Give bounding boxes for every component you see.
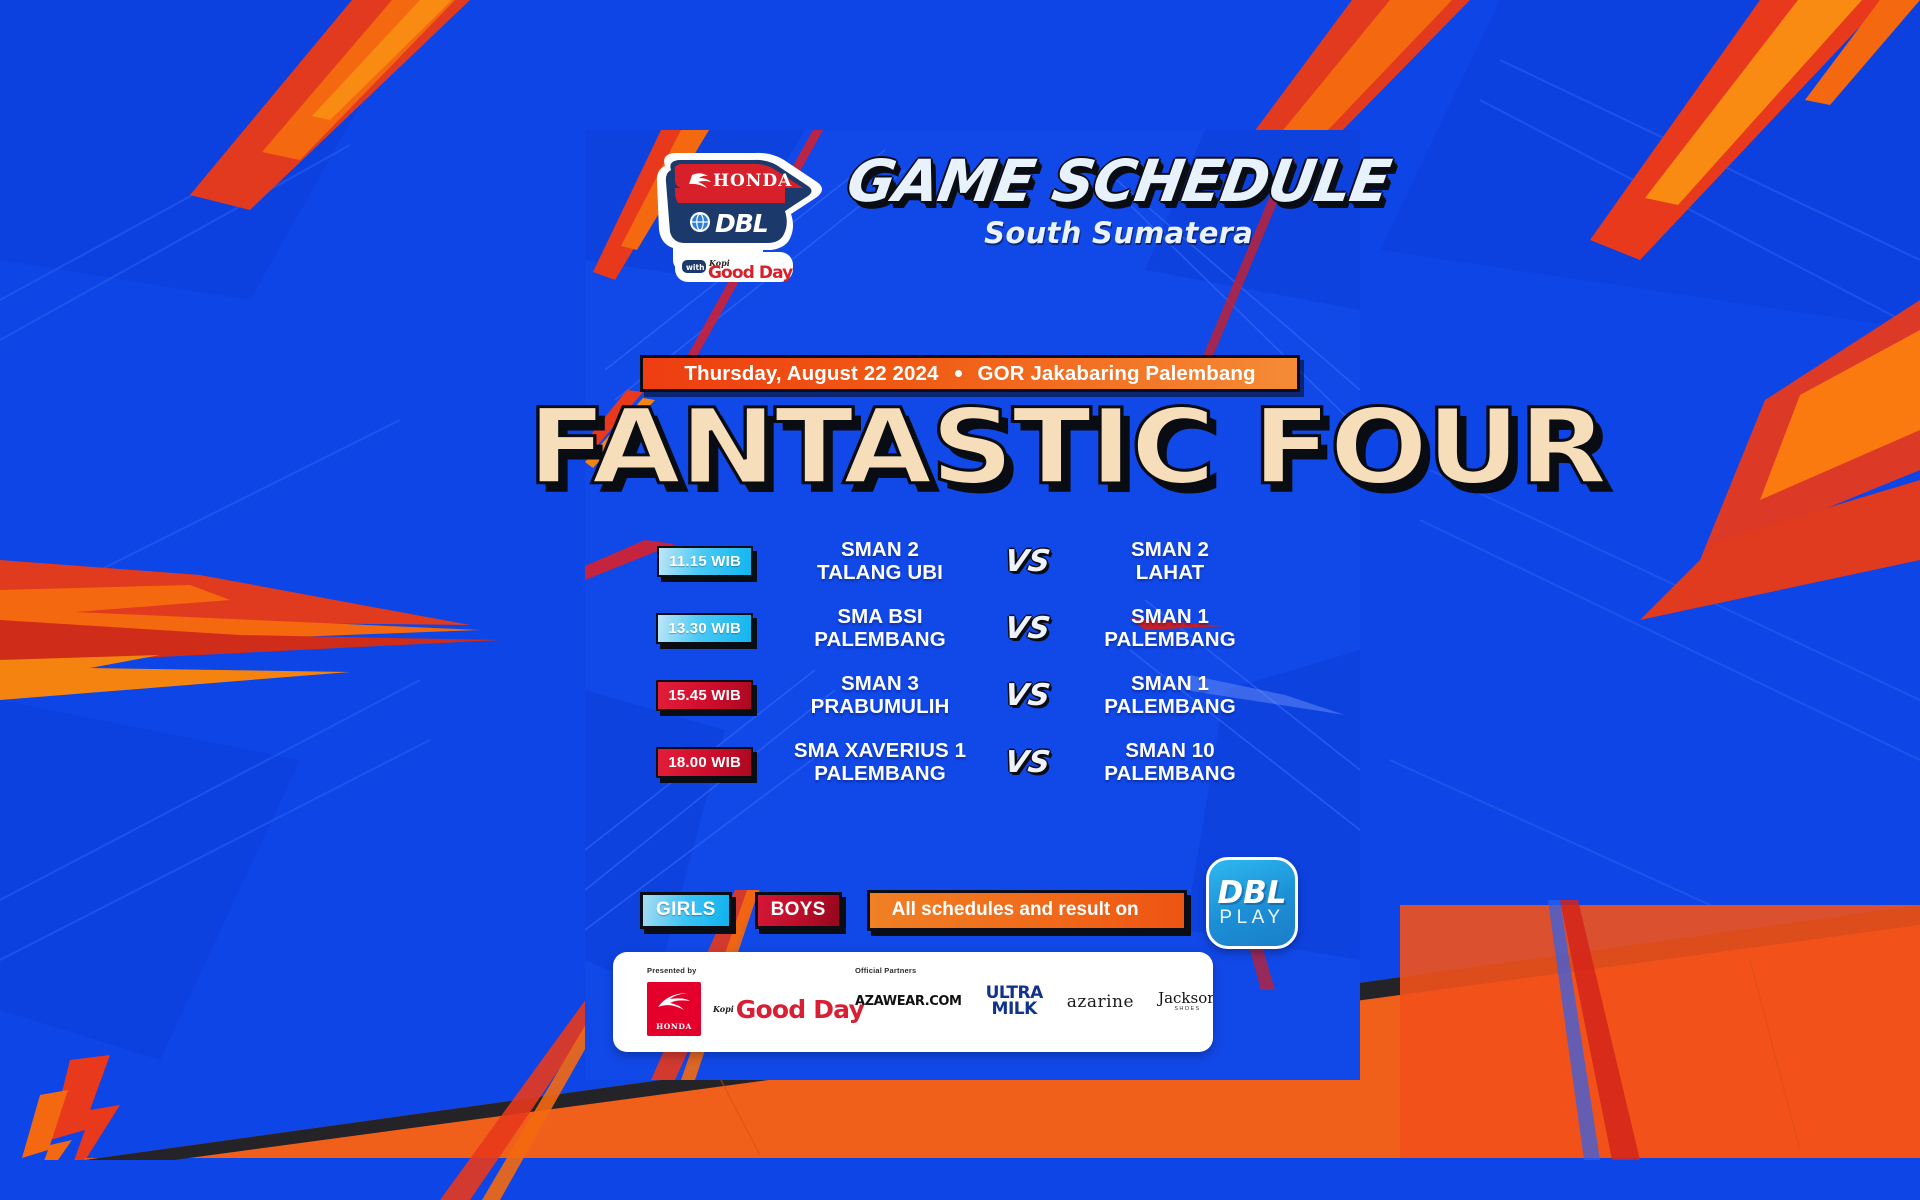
vs-cell: VS	[989, 745, 1065, 780]
vs-label: VS	[1002, 611, 1052, 646]
time-cell: 11.15 WIB	[585, 546, 775, 577]
jackson-sub: SHOES	[1174, 1007, 1200, 1013]
event-title: FANTASTIC FOUR	[527, 395, 1606, 499]
match-time-label: 13.30 WIB	[668, 620, 741, 637]
team-name-right: SMAN 1PALEMBANG	[1065, 673, 1275, 719]
region-subtitle: South Sumatera	[848, 216, 1389, 250]
cta-bar: All schedules and result on	[867, 890, 1187, 931]
match-time-chip: 11.15 WIB	[657, 546, 753, 577]
svg-text:HONDA: HONDA	[713, 171, 792, 191]
ultramilk-sponsor-logo: ULTRA MILK	[986, 986, 1043, 1018]
dbl-play-suffix: PLAY	[1219, 908, 1284, 927]
cta-text: All schedules and result on	[892, 899, 1139, 921]
time-cell: 18.00 WIB	[585, 747, 775, 778]
svg-text:DBL: DBL	[715, 209, 768, 238]
match-time-label: 18.00 WIB	[668, 754, 741, 771]
goodday-prefix: Kopi	[713, 1004, 734, 1014]
team-name-right: SMAN 2LAHAT	[1065, 539, 1275, 585]
official-partners-label: Official Partners	[855, 966, 916, 975]
boys-badge[interactable]: BOYS	[755, 892, 842, 929]
schedule-list: 11.15 WIBSMAN 2TALANG UBIVSSMAN 2LAHAT13…	[585, 530, 1360, 798]
girls-badge[interactable]: GIRLS	[640, 892, 732, 929]
time-cell: 15.45 WIB	[585, 680, 775, 711]
team-name-left: SMAN 3PRABUMULIH	[775, 673, 985, 719]
time-cell: 13.30 WIB	[585, 613, 775, 644]
jackson-sponsor-logo: Jackson SHOES	[1158, 991, 1213, 1013]
team-name-left: SMA BSIPALEMBANG	[775, 606, 985, 652]
match-time-label: 15.45 WIB	[668, 687, 741, 704]
goodday-name: Good Day	[736, 995, 864, 1024]
dbl-play-app-icon[interactable]: DBL PLAY	[1206, 857, 1298, 949]
match-time-chip: 13.30 WIB	[656, 613, 753, 644]
goodday-sponsor-logo: Kopi Good Day	[713, 995, 864, 1024]
schedule-row: 13.30 WIBSMA BSIPALEMBANGVSSMAN 1PALEMBA…	[585, 597, 1360, 660]
footer-cta: GIRLS BOYS All schedules and result on D…	[640, 875, 1320, 945]
honda-sponsor-logo: HONDA	[647, 982, 701, 1036]
team-name-right: SMAN 1PALEMBANG	[1065, 606, 1275, 652]
page-title: GAME SCHEDULE	[843, 152, 1394, 210]
svg-text:with: with	[686, 263, 704, 272]
vs-cell: VS	[989, 544, 1065, 579]
vs-label: VS	[1002, 745, 1052, 780]
svg-text:Good Day: Good Day	[708, 263, 793, 283]
team-name-left: SMA XAVERIUS 1PALEMBANG	[775, 740, 985, 786]
team-name-right: SMAN 10PALEMBANG	[1065, 740, 1275, 786]
schedule-row: 11.15 WIBSMAN 2TALANG UBIVSSMAN 2LAHAT	[585, 530, 1360, 593]
vs-label: VS	[1002, 678, 1052, 713]
presented-by-label: Presented by	[647, 966, 697, 975]
azawear-sponsor-logo: AZAWEAR.COM	[855, 994, 962, 1009]
vs-cell: VS	[989, 678, 1065, 713]
poster-card: HONDA DBL with Kopi Good Day GAME SCHEDU…	[585, 130, 1360, 1080]
poster-header: HONDA DBL with Kopi Good Day GAME SCHEDU…	[585, 130, 1360, 293]
ultramilk-line2: MILK	[992, 1002, 1037, 1018]
honda-sponsor-text: HONDA	[656, 1022, 692, 1031]
event-venue: GOR Jakabaring Palembang	[978, 362, 1256, 386]
sponsor-strip: Presented by Official Partners HONDA Kop…	[613, 952, 1213, 1052]
honda-dbl-logo: HONDA DBL with Kopi Good Day	[645, 148, 830, 293]
vs-cell: VS	[989, 611, 1065, 646]
jackson-name: Jackson	[1158, 991, 1213, 1006]
event-title-wrap: FANTASTIC FOUR	[585, 395, 1360, 499]
match-time-chip: 15.45 WIB	[656, 680, 753, 711]
event-date: Thursday, August 22 2024	[684, 362, 938, 386]
team-name-left: SMAN 2TALANG UBI	[775, 539, 985, 585]
schedule-row: 18.00 WIBSMA XAVERIUS 1PALEMBANGVSSMAN 1…	[585, 731, 1360, 794]
separator-dot-icon	[955, 370, 962, 377]
schedule-row: 15.45 WIBSMAN 3PRABUMULIHVSSMAN 1PALEMBA…	[585, 664, 1360, 727]
match-time-chip: 18.00 WIB	[656, 747, 753, 778]
match-time-label: 11.15 WIB	[669, 553, 741, 570]
dbl-play-name: DBL	[1217, 879, 1286, 908]
vs-label: VS	[1002, 544, 1052, 579]
azarine-sponsor-logo: azarine	[1067, 992, 1134, 1012]
